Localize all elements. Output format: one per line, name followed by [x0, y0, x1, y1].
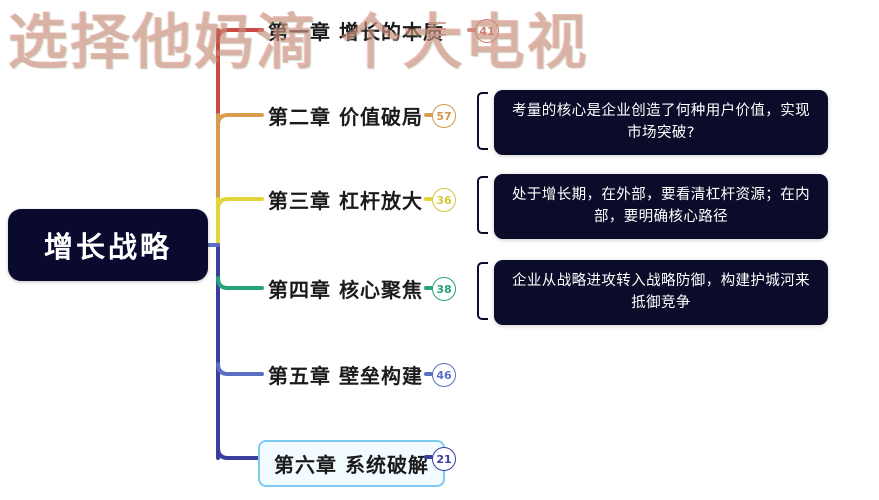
branch-count-badge-5[interactable]: 46 [432, 363, 456, 387]
branch-node-5[interactable]: 第五章 壁垒构建 [268, 357, 423, 391]
hamburger-menu-icon[interactable] [428, 22, 446, 36]
branch-label-5: 第五章 壁垒构建 [268, 360, 423, 389]
branch-count-badge-4[interactable]: 38 [432, 277, 456, 301]
branch-label-2: 第二章 价值破局 [268, 101, 423, 130]
branch-count-badge-1[interactable]: 41 [475, 19, 499, 43]
note-card-3[interactable]: 企业从战略进攻转入战略防御，构建护城河来抵御竞争 [494, 260, 828, 325]
branch-label-3: 第三章 杠杆放大 [268, 185, 423, 214]
branch-count-badge-2[interactable]: 57 [432, 104, 456, 128]
branch-node-6[interactable]: 第六章 系统破解 [258, 440, 445, 487]
mindmap-canvas: 选择他妈滴 个大电视 增长战略 第一章 增长的本质 41 第二章 价值破局 57… [0, 0, 879, 500]
root-node-label: 增长战略 [44, 224, 172, 266]
branch-node-4[interactable]: 第四章 核心聚焦 [268, 271, 423, 305]
branch-label-1: 第一章 增长的本质 [268, 16, 444, 45]
note-card-2[interactable]: 处于增长期，在外部，要看清杠杆资源；在内部，要明确核心路径 [494, 174, 828, 239]
branch-label-6: 第六章 系统破解 [274, 449, 429, 478]
branch-count-badge-3[interactable]: 36 [432, 188, 456, 212]
note-card-1[interactable]: 考量的核心是企业创造了何种用户价值，实现市场突破? [494, 90, 828, 155]
note-bracket-3 [477, 262, 488, 320]
root-node[interactable]: 增长战略 [8, 209, 208, 281]
branch-label-4: 第四章 核心聚焦 [268, 274, 423, 303]
branch-node-1[interactable]: 第一章 增长的本质 [268, 13, 444, 47]
note-bracket-2 [477, 176, 488, 234]
branch-count-badge-6[interactable]: 21 [432, 447, 456, 471]
note-bracket-1 [477, 92, 488, 150]
branch-node-2[interactable]: 第二章 价值破局 [268, 98, 423, 132]
branch-node-3[interactable]: 第三章 杠杆放大 [268, 182, 423, 216]
